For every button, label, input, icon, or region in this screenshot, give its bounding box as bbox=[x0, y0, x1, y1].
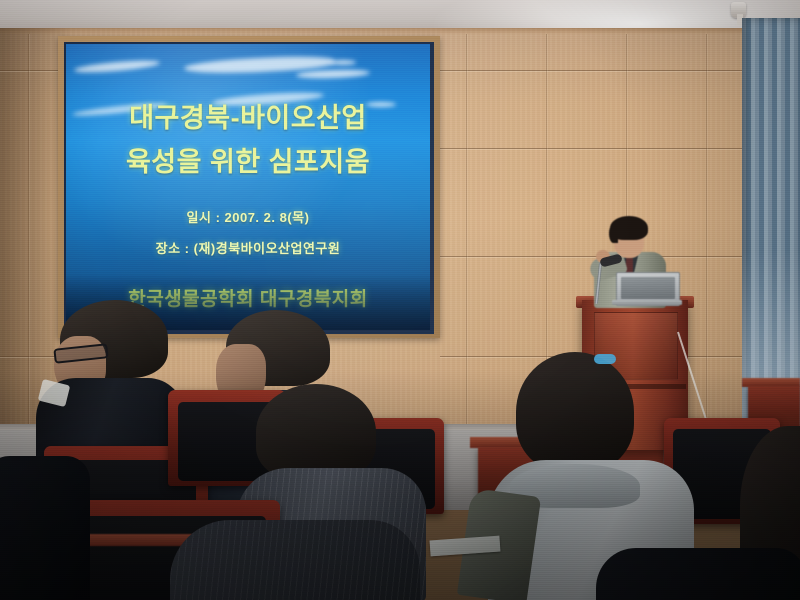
foreground-attendee-dark bbox=[596, 548, 800, 600]
wall-top-trim bbox=[0, 28, 800, 34]
speaker-hair-side bbox=[609, 224, 618, 243]
attendee-hair bbox=[256, 384, 376, 480]
wall-seam bbox=[466, 34, 467, 434]
screen-glare bbox=[74, 58, 160, 74]
laptop-base bbox=[612, 300, 682, 305]
foreground-attendee-shoulder bbox=[0, 456, 90, 600]
photo-scene: 대구경북-바이오산업 육성을 위한 심포지움 일시 : 2007. 2. 8(목… bbox=[0, 0, 800, 600]
hair-clip-icon bbox=[594, 354, 616, 364]
slide-place-line: 장소 : (재)경북바이오산업연구원 bbox=[66, 238, 430, 257]
attendee-hair bbox=[516, 352, 634, 472]
wall-seam bbox=[28, 34, 29, 434]
slide-date-line: 일시 : 2007. 2. 8(목) bbox=[66, 207, 430, 226]
projection-screen: 대구경북-바이오산업 육성을 위한 심포지움 일시 : 2007. 2. 8(목… bbox=[66, 44, 430, 330]
screen-glare bbox=[330, 60, 356, 65]
screen-glare bbox=[296, 69, 370, 80]
slide-title-line-2: 육성을 위한 심포지움 bbox=[66, 140, 430, 179]
foreground-attendee-pinstripe bbox=[170, 520, 420, 600]
slide-title-line-1: 대구경북-바이오산업 bbox=[66, 96, 430, 135]
